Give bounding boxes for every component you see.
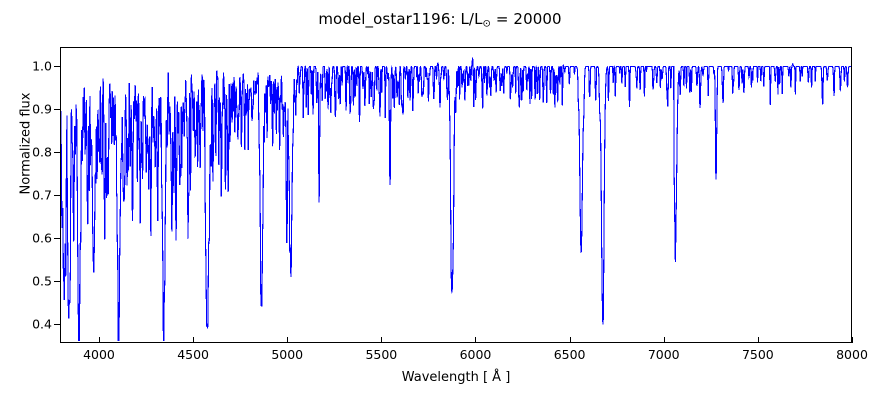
- x-tick-label: 6000: [435, 347, 515, 362]
- plot-axes: [60, 47, 852, 343]
- y-axis-label: Normalized flux: [19, 0, 34, 294]
- matplotlib-figure: model_ostar1196: L/L⊙ = 20000 0.40.50.60…: [0, 0, 880, 400]
- title-suffix: = 20000: [491, 10, 562, 28]
- x-tick-label: 4500: [153, 347, 233, 362]
- x-tick-label: 6500: [530, 347, 610, 362]
- x-tick-label: 4000: [59, 347, 139, 362]
- x-tick-mark: [852, 337, 853, 343]
- x-tick-label: 5500: [341, 347, 421, 362]
- y-tick-label: 0.4: [6, 316, 52, 331]
- sun-symbol: ⊙: [483, 19, 491, 30]
- x-tick-label: 8000: [812, 347, 880, 362]
- page-title: model_ostar1196: L/L⊙ = 20000: [0, 10, 880, 30]
- x-axis-label: Wavelength [ Å ]: [60, 370, 852, 385]
- x-tick-label: 7000: [624, 347, 704, 362]
- x-tick-label: 5000: [247, 347, 327, 362]
- title-prefix: model_ostar1196: L/L: [318, 10, 482, 28]
- x-tick-label: 7500: [718, 347, 798, 362]
- spectrum-line: [61, 48, 851, 342]
